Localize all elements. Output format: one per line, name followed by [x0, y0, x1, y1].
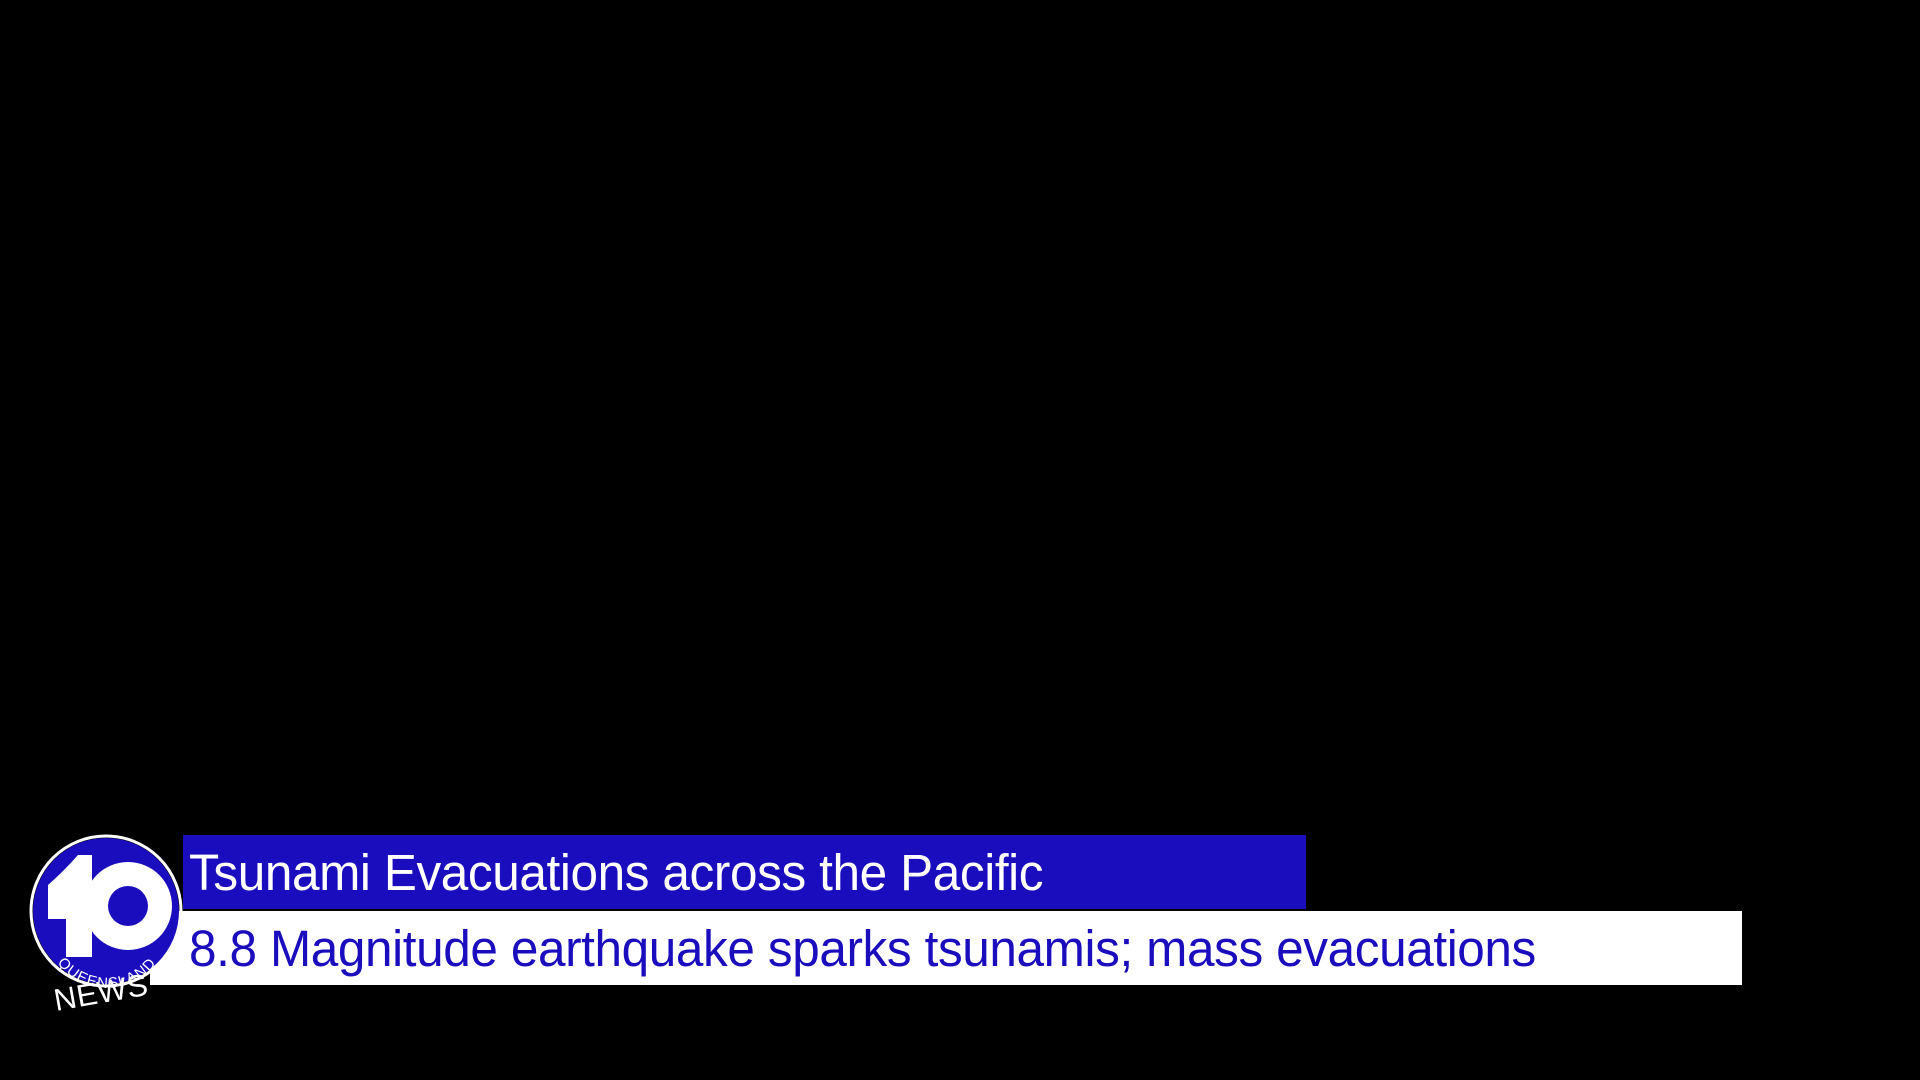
- broadcast-frame: Tsunami Evacuations across the Pacific 8…: [0, 0, 1920, 1080]
- subheadline-bar: 8.8 Magnitude earthquake sparks tsunamis…: [150, 911, 1742, 985]
- subheadline-text: 8.8 Magnitude earthquake sparks tsunamis…: [189, 923, 1536, 974]
- lower-third-graphic: Tsunami Evacuations across the Pacific 8…: [0, 835, 1920, 995]
- headline-bar: Tsunami Evacuations across the Pacific: [183, 835, 1306, 909]
- logo-numeral-zero-hole: [108, 886, 148, 926]
- network-10-queensland-news-logo: QUEENSLAND NEWS: [26, 833, 186, 1023]
- headline-text: Tsunami Evacuations across the Pacific: [189, 847, 1043, 898]
